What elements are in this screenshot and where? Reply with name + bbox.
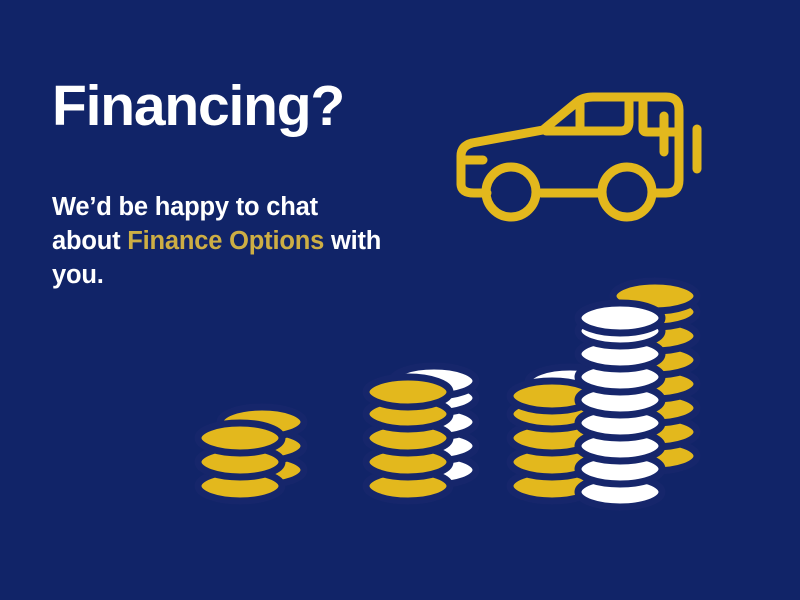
- coin-stack-large-middle: [578, 303, 662, 507]
- coin-stack-small: [198, 407, 304, 501]
- coin-stack-medium: [366, 366, 476, 501]
- coin-stack-medium-front: [366, 377, 450, 501]
- financing-slide: Financing? We’d be happy to chat about F…: [0, 0, 800, 600]
- coin-stacks-icon: [0, 0, 800, 600]
- coin-stack-large: [510, 281, 697, 507]
- coin-stack-small-front: [198, 423, 282, 501]
